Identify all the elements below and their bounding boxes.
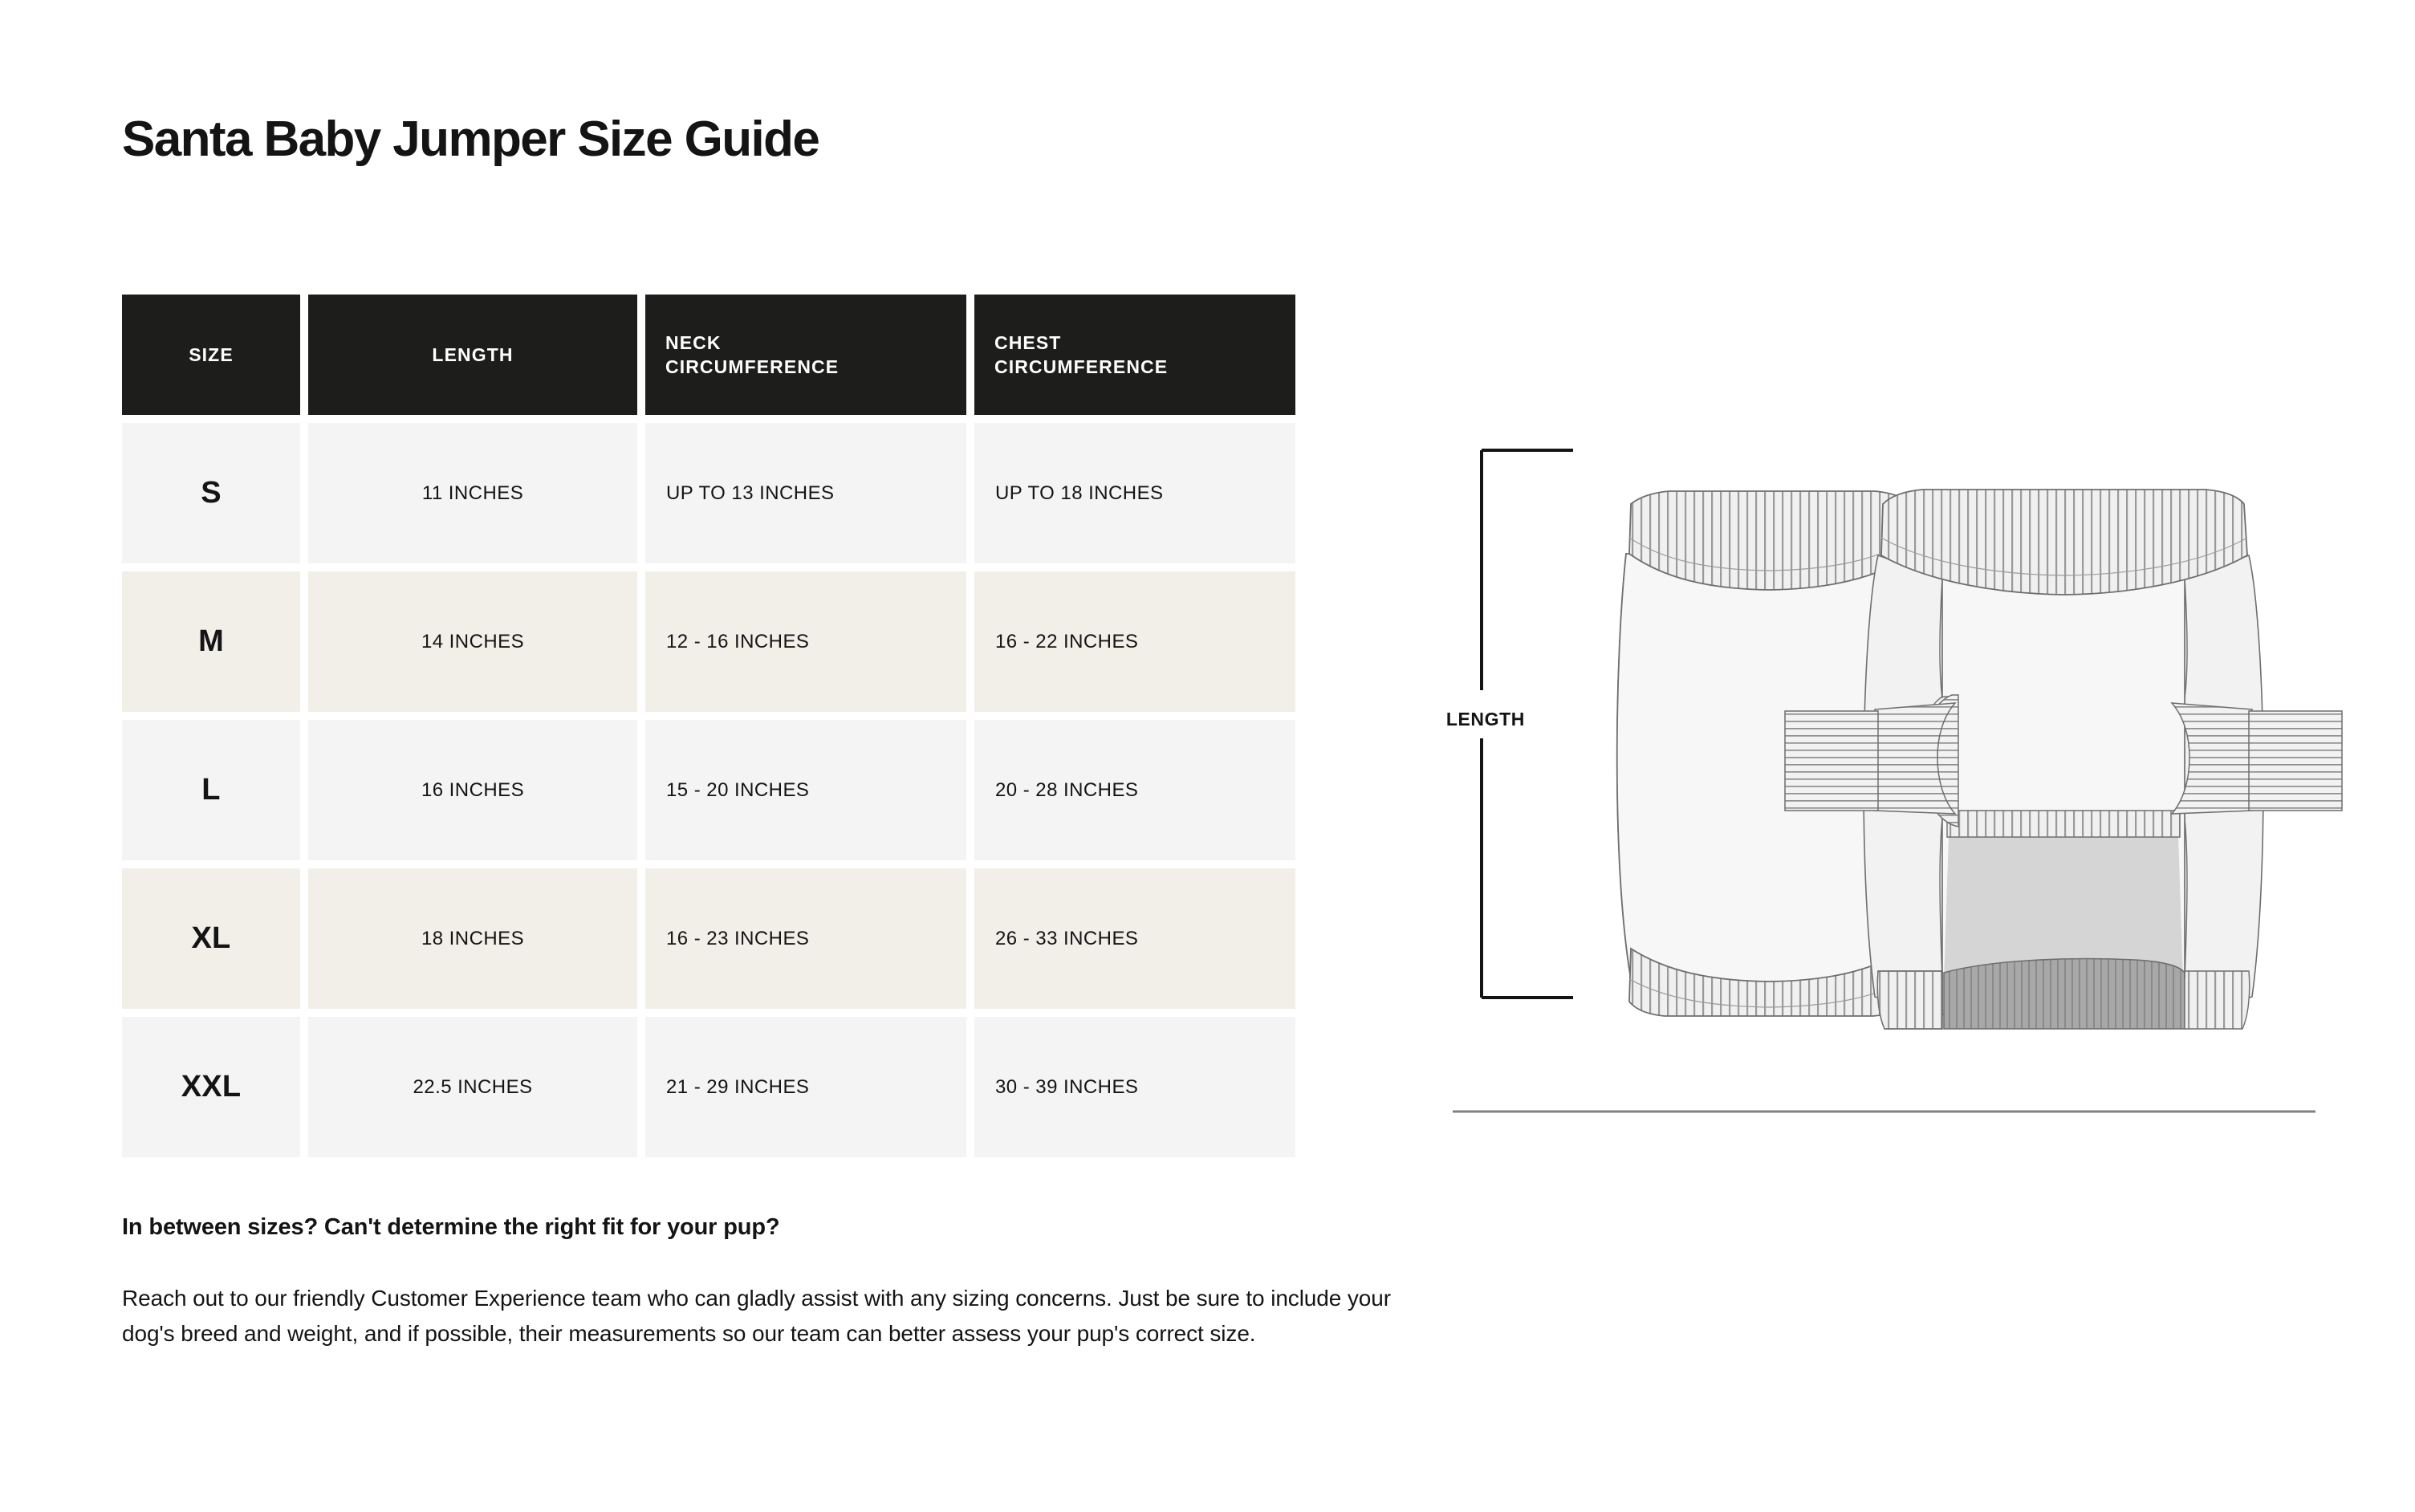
cell-chest: 20 - 28 INCHES — [974, 720, 1295, 860]
cell-length: 16 INCHES — [308, 720, 637, 860]
cell-size: M — [122, 571, 300, 712]
garment-illustration — [1429, 417, 2344, 1140]
page-title: Santa Baby Jumper Size Guide — [122, 111, 819, 168]
chest-value: 16 - 22 INCHES — [992, 631, 1138, 653]
header-neck-line-2: CIRCUMFERENCE — [665, 355, 839, 379]
neck-value: 21 - 29 INCHES — [663, 1076, 809, 1099]
length-value: 18 INCHES — [421, 928, 524, 950]
column-header-chest-circumference: CHEST CIRCUMFERENCE — [974, 295, 1295, 415]
cell-size: S — [122, 423, 300, 563]
cell-neck: 21 - 29 INCHES — [645, 1017, 966, 1157]
cell-neck: 15 - 20 INCHES — [645, 720, 966, 860]
size-chart-table: SIZE LENGTH NECK CIRCUMFERENCE CHEST CIR… — [122, 295, 1311, 1157]
header-chest-line-2: CIRCUMFERENCE — [994, 355, 1168, 379]
header-neck-line-1: NECK — [665, 331, 839, 355]
cell-chest: 30 - 39 INCHES — [974, 1017, 1295, 1157]
length-value: 14 INCHES — [421, 631, 524, 653]
size-value: S — [201, 476, 222, 510]
length-value: 16 INCHES — [421, 779, 524, 802]
header-chest-line-1: CHEST — [994, 331, 1168, 355]
neck-value: UP TO 13 INCHES — [663, 482, 835, 505]
cell-neck: 12 - 16 INCHES — [645, 571, 966, 712]
cell-length: 14 INCHES — [308, 571, 637, 712]
cell-length: 22.5 INCHES — [308, 1017, 637, 1157]
chest-value: 20 - 28 INCHES — [992, 779, 1138, 802]
size-guide-page: Santa Baby Jumper Size Guide SIZE LENGTH… — [0, 0, 2415, 1512]
chest-value: UP TO 18 INCHES — [992, 482, 1164, 505]
header-length-line-1: LENGTH — [432, 343, 513, 367]
neck-value: 15 - 20 INCHES — [663, 779, 809, 802]
header-chest-text: CHEST CIRCUMFERENCE — [994, 331, 1168, 380]
size-value: M — [198, 624, 224, 659]
column-header-neck-circumference: NECK CIRCUMFERENCE — [645, 295, 966, 415]
cell-chest: 16 - 22 INCHES — [974, 571, 1295, 712]
cell-neck: 16 - 23 INCHES — [645, 868, 966, 1009]
cell-chest: 26 - 33 INCHES — [974, 868, 1295, 1009]
cell-size: XXL — [122, 1017, 300, 1157]
size-value: XL — [192, 921, 231, 956]
table-row: M 14 INCHES 12 - 16 INCHES 16 - 22 INCHE… — [122, 571, 1311, 712]
length-value: 11 INCHES — [422, 482, 523, 505]
cell-neck: UP TO 13 INCHES — [645, 423, 966, 563]
header-neck-text: NECK CIRCUMFERENCE — [665, 331, 839, 380]
neck-value: 12 - 16 INCHES — [663, 631, 809, 653]
chest-value: 30 - 39 INCHES — [992, 1076, 1138, 1099]
column-header-length: LENGTH — [308, 295, 637, 415]
neck-value: 16 - 23 INCHES — [663, 928, 809, 950]
length-label: LENGTH — [1429, 709, 1525, 730]
size-value: XXL — [181, 1070, 242, 1104]
table-row: L 16 INCHES 15 - 20 INCHES 20 - 28 INCHE… — [122, 720, 1311, 860]
table-header-row: SIZE LENGTH NECK CIRCUMFERENCE CHEST CIR… — [122, 295, 1311, 415]
cell-length: 11 INCHES — [308, 423, 637, 563]
column-header-size: SIZE — [122, 295, 300, 415]
cell-chest: UP TO 18 INCHES — [974, 423, 1295, 563]
chest-value: 26 - 33 INCHES — [992, 928, 1138, 950]
header-size-line-1: SIZE — [189, 343, 234, 367]
cell-size: XL — [122, 868, 300, 1009]
table-row: XXL 22.5 INCHES 21 - 29 INCHES 30 - 39 I… — [122, 1017, 1311, 1157]
cell-size: L — [122, 720, 300, 860]
size-value: L — [201, 773, 220, 807]
help-body-text: Reach out to our friendly Customer Exper… — [122, 1281, 1438, 1351]
cell-length: 18 INCHES — [308, 868, 637, 1009]
table-row: S 11 INCHES UP TO 13 INCHES UP TO 18 INC… — [122, 423, 1311, 563]
table-row: XL 18 INCHES 16 - 23 INCHES 26 - 33 INCH… — [122, 868, 1311, 1009]
help-heading: In between sizes? Can't determine the ri… — [122, 1214, 779, 1241]
length-value: 22.5 INCHES — [413, 1076, 532, 1099]
